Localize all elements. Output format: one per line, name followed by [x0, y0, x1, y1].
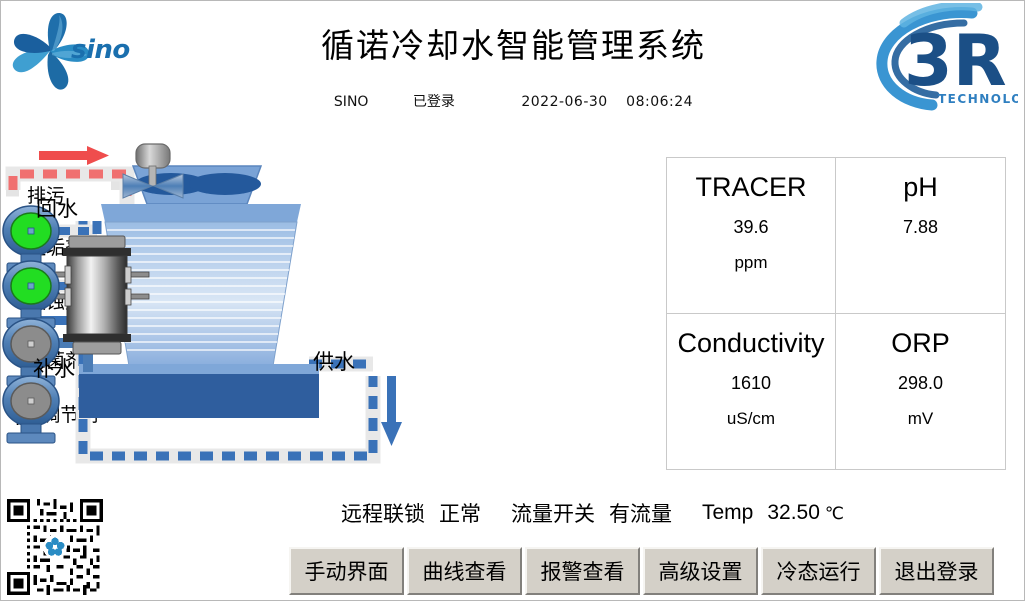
- flow-switch-status: 流量开关 有流量: [511, 498, 702, 528]
- metric-name: pH: [903, 172, 938, 203]
- curve-view-button[interactable]: 曲线查看: [407, 547, 522, 595]
- metric-cell-tracer: TRACER 39.6 ppm: [667, 158, 836, 314]
- header-status-line: SINO 已登录 2022-06-30 08:06:24: [1, 91, 1025, 111]
- header-bar: sino 3R TECHNOLOGY 循诺冷却水智能管理系统 SINO 已登录 …: [1, 1, 1025, 126]
- remote-interlock-value: 正常: [439, 498, 481, 528]
- metric-value: 7.88: [903, 217, 938, 238]
- dosing-pump-ph-adjuster[interactable]: [3, 376, 59, 443]
- remote-interlock-status: 远程联锁 正常: [341, 498, 511, 528]
- remote-interlock-label: 远程联锁: [341, 498, 425, 528]
- login-status: 已登录: [413, 91, 455, 111]
- dosing-pump-inhibitor[interactable]: [3, 261, 59, 328]
- metric-cell-conductivity: Conductivity 1610 uS/cm: [667, 314, 836, 470]
- metric-unit: mV: [908, 409, 934, 429]
- fan-blade-right: [189, 173, 261, 195]
- metric-cell-orp: ORP 298.0 mV: [836, 314, 1005, 470]
- flow-switch-value: 有流量: [609, 498, 672, 528]
- measurement-panel: TRACER 39.6 ppm pH 7.88 Conductivity 161…: [666, 157, 1006, 470]
- current-date: 2022-06-30: [521, 94, 607, 110]
- qr-code: [7, 499, 103, 595]
- label-return-water: 回水: [36, 197, 78, 221]
- page-title: 循诺冷却水智能管理系统: [1, 19, 1025, 67]
- label-makeup-water: 补水: [33, 357, 75, 381]
- supply-flow-arrow: [381, 376, 402, 446]
- metric-value: 1610: [731, 373, 771, 394]
- current-user: SINO: [334, 94, 369, 110]
- temperature-status: Temp 32.50 ℃: [702, 501, 844, 525]
- label-supply-water: 供水: [313, 350, 355, 374]
- advanced-settings-button[interactable]: 高级设置: [643, 547, 758, 595]
- temperature-unit: ℃: [825, 504, 844, 524]
- metric-name: TRACER: [695, 172, 806, 203]
- temperature-label: Temp: [702, 501, 753, 525]
- action-button-bar: 手动界面 曲线查看 报警查看 高级设置 冷态运行 退出登录: [289, 547, 994, 595]
- process-flow-diagram: 回水 补水 供水: [1, 126, 669, 486]
- return-flow-arrow: [39, 146, 109, 165]
- metric-cell-ph: pH 7.88: [836, 158, 1005, 314]
- temperature-value: 32.50: [767, 501, 820, 525]
- manual-interface-button[interactable]: 手动界面: [289, 547, 404, 595]
- metric-name: Conductivity: [677, 328, 824, 359]
- cold-run-button[interactable]: 冷态运行: [761, 547, 876, 595]
- metric-name: ORP: [891, 328, 950, 359]
- tower-basin: [79, 374, 319, 418]
- status-row: 远程联锁 正常 流量开关 有流量 Temp 32.50 ℃: [341, 496, 1021, 530]
- flow-switch-label: 流量开关: [511, 498, 595, 528]
- logout-button[interactable]: 退出登录: [879, 547, 994, 595]
- metric-value: 39.6: [733, 217, 768, 238]
- metric-value: 298.0: [898, 373, 943, 394]
- current-time: 08:06:24: [626, 94, 693, 110]
- alarm-view-button[interactable]: 报警查看: [525, 547, 640, 595]
- application-window: sino 3R TECHNOLOGY 循诺冷却水智能管理系统 SINO 已登录 …: [0, 0, 1025, 601]
- metric-unit: uS/cm: [727, 409, 775, 429]
- metric-unit: ppm: [734, 253, 767, 273]
